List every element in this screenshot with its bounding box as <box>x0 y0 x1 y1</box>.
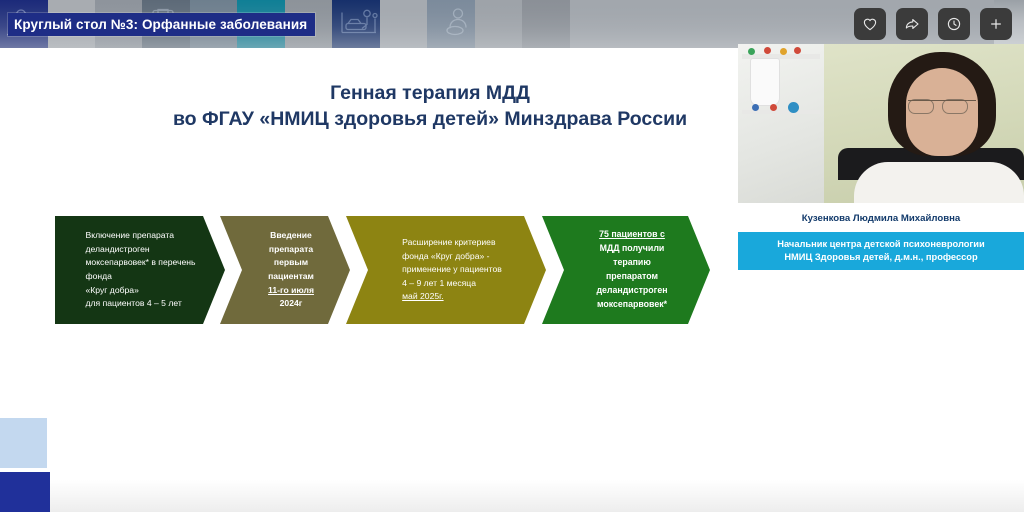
slide-title-line-2: во ФГАУ «НМИЦ здоровья детей» Минздрава … <box>120 106 740 132</box>
toy <box>770 104 777 111</box>
process-step-line: терапию <box>596 256 667 270</box>
speaker-role-line-2: НМИЦ Здоровья детей, д.м.н., профессор <box>784 251 977 264</box>
process-step-line: май 2025г. <box>402 290 502 304</box>
hospital-bed-icon <box>339 7 381 42</box>
process-step-text: Включение препаратаделандистрогенмоксепа… <box>86 229 196 310</box>
decorative-block-light <box>0 418 47 468</box>
toy <box>764 47 771 54</box>
process-flow: Включение препаратаделандистрогенмоксепа… <box>55 216 710 324</box>
process-step-line: 75 пациентов с <box>596 228 667 242</box>
toy <box>752 104 759 111</box>
slide-title-line-1: Генная терапия МДД <box>120 80 740 106</box>
blank-tile <box>475 0 522 48</box>
decorative-block-dark <box>0 472 50 512</box>
process-step-line: первым <box>268 256 314 270</box>
player-controls <box>854 8 1012 40</box>
process-step-line: препарата <box>268 243 314 257</box>
process-step-line: пациентам <box>268 270 314 284</box>
speaker-video[interactable] <box>738 44 1024 203</box>
blank-tile <box>380 0 427 48</box>
process-step-line: фонда <box>86 270 196 284</box>
share-arrow-icon <box>904 16 920 32</box>
process-step-4: 75 пациентов сМДД получилитерапиюпрепара… <box>542 216 710 324</box>
process-step-text: Расширение критериевфонда «Круг добра» -… <box>402 236 502 304</box>
speaker-role-line-1: Начальник центра детской психоневрологии <box>777 238 984 251</box>
glasses-bridge <box>908 100 976 113</box>
process-step-line: 2024г <box>268 297 314 311</box>
process-step-3: Расширение критериевфонда «Круг добра» -… <box>346 216 546 324</box>
iv-bag <box>750 58 780 106</box>
slide-bottom-strip <box>0 480 1024 512</box>
process-step-line: Введение <box>268 229 314 243</box>
process-step-line: Включение препарата <box>86 229 196 243</box>
share-button[interactable] <box>896 8 928 40</box>
process-step-line: «Круг добра» <box>86 284 196 298</box>
toy <box>748 48 755 55</box>
process-step-line: для пациентов 4 – 5 лет <box>86 297 196 311</box>
process-step-text: Введениепрепаратапервымпациентам11-го ию… <box>268 229 314 310</box>
process-step-2: Введениепрепаратапервымпациентам11-го ию… <box>220 216 350 324</box>
banner-title: Круглый стол №3: Орфанные заболевания <box>8 13 315 36</box>
heart-icon <box>862 16 878 32</box>
process-step-line: препаратом <box>596 270 667 284</box>
favorite-button[interactable] <box>854 8 886 40</box>
speaker-coat <box>854 162 1024 203</box>
toy <box>788 102 799 113</box>
mother-child-icon <box>441 7 473 42</box>
app-root: Круглый стол №3: Орфанные заболевания <box>0 0 1024 512</box>
process-step-line: 11-го июля <box>268 284 314 298</box>
add-button[interactable] <box>980 8 1012 40</box>
clock-icon <box>946 16 962 32</box>
process-step-line: 4 – 9 лет 1 месяца <box>402 277 502 291</box>
process-step-text: 75 пациентов сМДД получилитерапиюпрепара… <box>596 228 667 311</box>
slide-title: Генная терапия МДД во ФГАУ «НМИЦ здоровь… <box>120 80 740 132</box>
plus-icon <box>988 16 1004 32</box>
process-step-1: Включение препаратаделандистрогенмоксепа… <box>55 216 225 324</box>
process-step-line: моксепарвовек* в перечень <box>86 256 196 270</box>
process-step-line: моксепарвовек* <box>596 298 667 312</box>
speaker-role-banner: Начальник центра детской психоневрологии… <box>738 232 1024 270</box>
process-step-line: фонда «Круг добра» - <box>402 250 502 264</box>
process-step-line: деландистроген <box>596 284 667 298</box>
video-background-left <box>738 44 824 203</box>
process-step-line: Расширение критериев <box>402 236 502 250</box>
history-button[interactable] <box>938 8 970 40</box>
process-step-line: применение у пациентов <box>402 263 502 277</box>
process-step-line: деландистроген <box>86 243 196 257</box>
blank-tile <box>522 0 570 48</box>
speaker-name: Кузенкова Людмила Михайловна <box>738 213 1024 224</box>
toy <box>794 47 801 54</box>
process-step-line: МДД получили <box>596 242 667 256</box>
toy <box>780 48 787 55</box>
